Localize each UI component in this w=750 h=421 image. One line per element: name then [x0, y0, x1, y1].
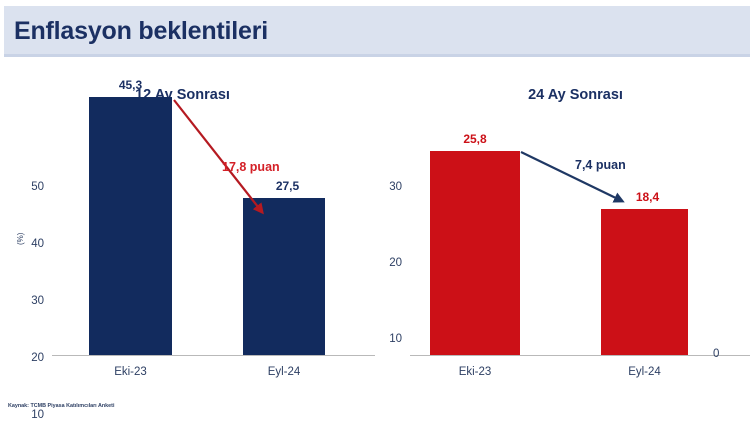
chart-24-ay-sonrasi: 24 Ay Sonrası 30 20 10 0 25,8 18,4 7,4 p… — [375, 70, 750, 415]
xlabel-eyl-24-left: Eyl-24 — [243, 366, 325, 378]
chart-12-ay-sonrasi: 12 Ay Sonrası 50 40 30 20 10 (%) 45,3 27… — [0, 70, 375, 415]
plot-area-left: 50 40 30 20 10 (%) 45,3 27,5 17,8 puan — [0, 70, 375, 415]
decline-arrow-right — [375, 70, 750, 415]
xlabel-eki-23-right: Eki-23 — [430, 366, 520, 378]
plot-area-right: 30 20 10 0 25,8 18,4 7,4 puan Eki-23 Eyl… — [375, 70, 750, 415]
page-title: Enflasyon beklentileri — [14, 17, 268, 46]
delta-label-left: 17,8 puan — [222, 160, 280, 174]
delta-label-right: 7,4 puan — [575, 158, 626, 172]
xlabel-eyl-24-right: Eyl-24 — [601, 366, 688, 378]
decline-arrow-left — [0, 70, 375, 415]
xlabel-eki-23-left: Eki-23 — [89, 366, 172, 378]
source-note: Kaynak: TCMB Piyasa Katılımcıları Anketi — [8, 403, 114, 409]
